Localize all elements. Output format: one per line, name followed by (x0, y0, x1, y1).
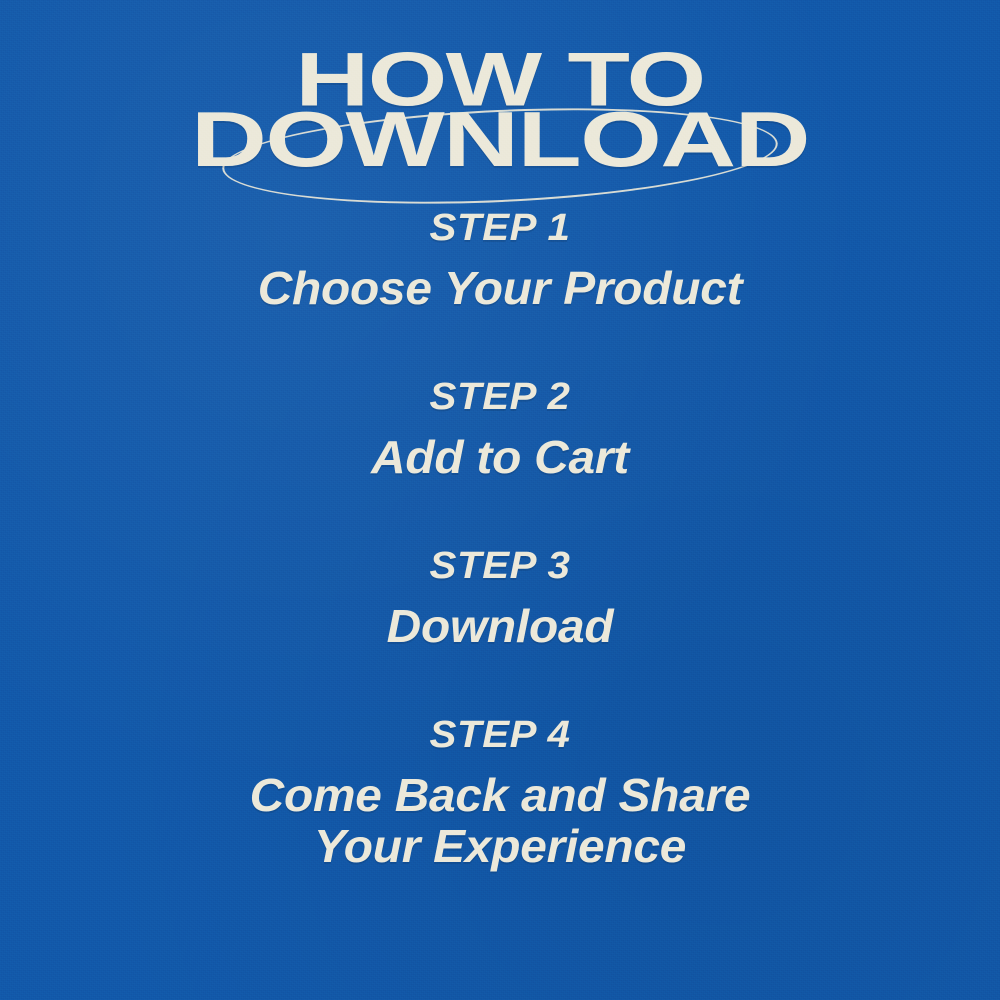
step-4-title: Come Back and Share Your Experience (0, 770, 1000, 873)
list-item-step-3: STEP 3 Download (0, 543, 1000, 652)
step-4-label: STEP 4 (0, 712, 1000, 760)
list-item-step-4: STEP 4 Come Back and Share Your Experien… (0, 712, 1000, 873)
step-3-label: STEP 3 (0, 543, 1000, 591)
list-item-step-2: STEP 2 Add to Cart (0, 374, 1000, 483)
page-title-line-2: DOWNLOAD (0, 101, 1000, 179)
title-block: HOW TO DOWNLOAD (0, 30, 1000, 190)
step-3-title: Download (0, 601, 1000, 653)
step-1-label: STEP 1 (0, 205, 1000, 253)
step-3-title-line-1: Download (387, 600, 614, 652)
steps-list: STEP 1 Choose Your Product STEP 2 Add to… (0, 205, 1000, 873)
step-1-title-line-1: Choose Your Product (258, 262, 743, 314)
step-2-title: Add to Cart (0, 432, 1000, 484)
step-4-title-line-1: Come Back and Share (250, 769, 751, 821)
step-4-title-line-2: Your Experience (0, 821, 1000, 873)
step-2-title-line-1: Add to Cart (371, 431, 629, 483)
step-1-title: Choose Your Product (0, 263, 1000, 315)
step-2-label: STEP 2 (0, 374, 1000, 422)
list-item-step-1: STEP 1 Choose Your Product (0, 205, 1000, 314)
how-to-download-poster: HOW TO DOWNLOAD STEP 1 Choose Your Produ… (0, 0, 1000, 1000)
